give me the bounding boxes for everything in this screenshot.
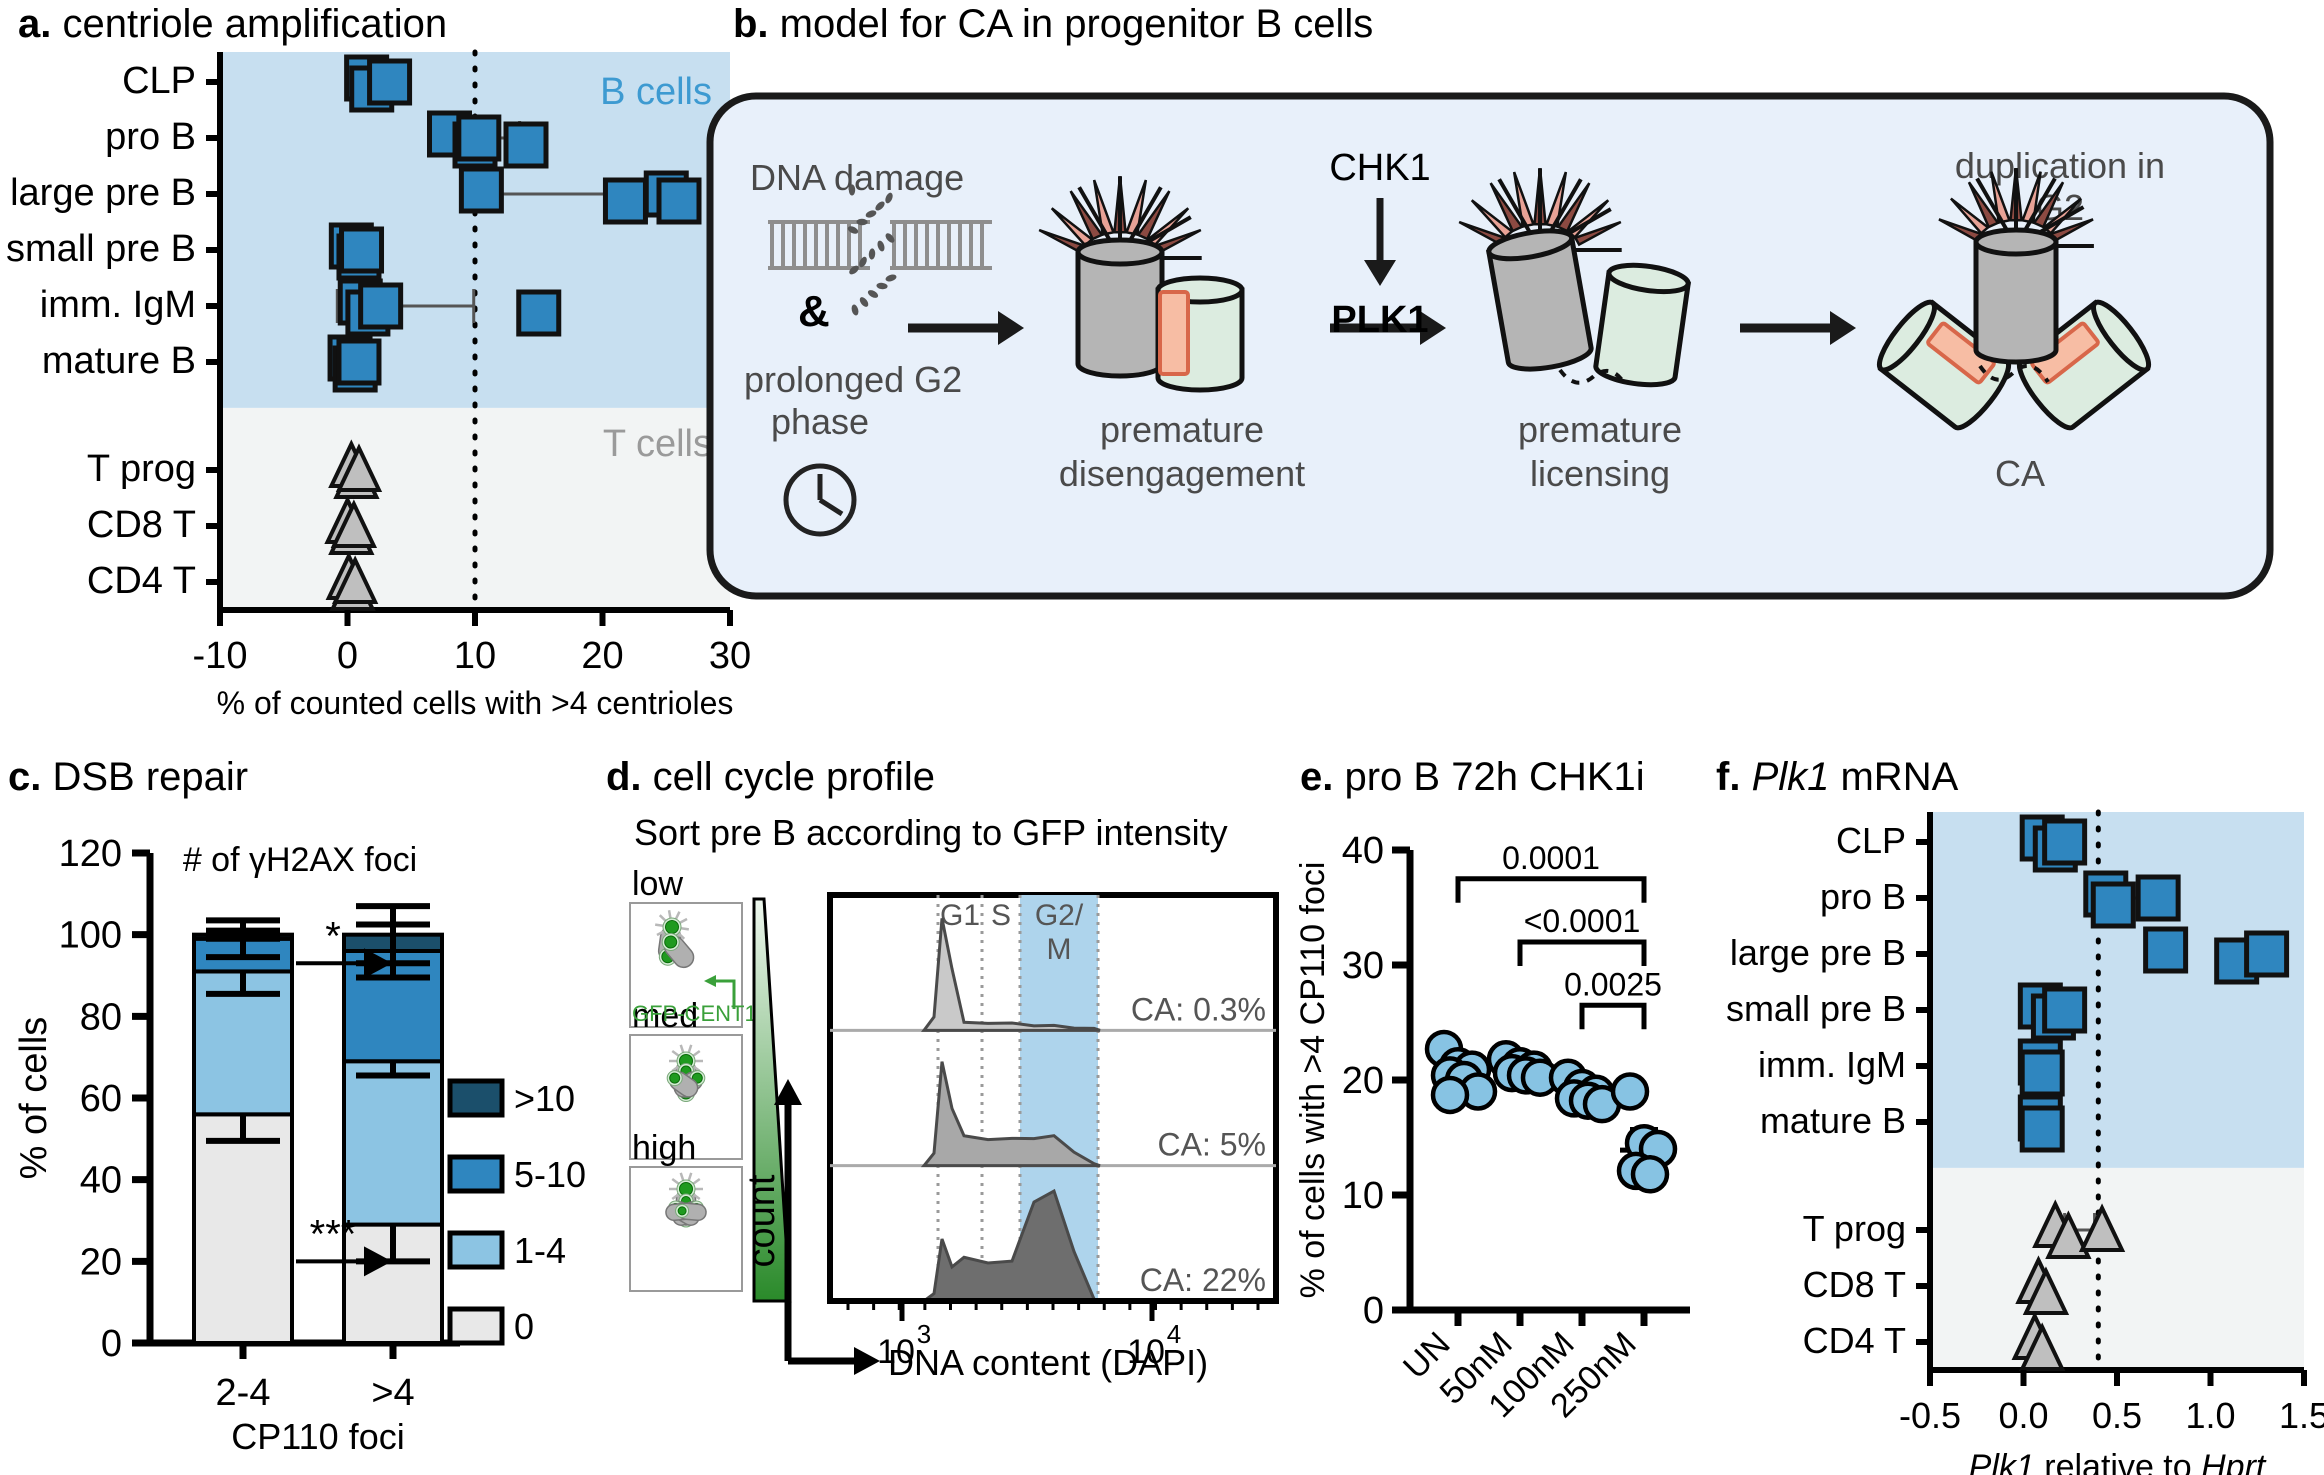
panel-c-plot: 020406080100120# of γH2AX foci% of cells…	[0, 813, 620, 1473]
legend-label: >10	[514, 1078, 575, 1119]
panel-d-subtitle: Sort pre B according to GFP intensity	[634, 812, 1228, 853]
data-point	[361, 285, 401, 327]
legend-swatch	[450, 1157, 502, 1191]
x-tick-label: 2-4	[216, 1372, 271, 1414]
significance-bracket	[1582, 1005, 1644, 1029]
x-tick-label: -0.5	[1899, 1395, 1961, 1436]
row-label-mature-b: mature B	[42, 340, 196, 382]
y-tick-label: 20	[80, 1241, 122, 1283]
data-point	[1633, 1157, 1667, 1191]
panel-a-title-text: centriole amplification	[62, 2, 447, 46]
panel-c-xlabel: CP110 foci	[231, 1416, 404, 1457]
row-label-large-pre-b: large pre B	[1730, 932, 1906, 973]
x-tick-label: 0.0	[1998, 1395, 2048, 1436]
legend-label: 0	[514, 1306, 534, 1347]
data-point	[605, 180, 645, 222]
y-tick-label: 40	[1342, 830, 1384, 872]
plk1-label: PLK1	[1331, 299, 1428, 341]
y-tick-label: 80	[80, 996, 122, 1038]
panel-d-ylabel: count	[741, 1174, 783, 1267]
row-label-cd4-t: CD4 T	[87, 560, 196, 602]
data-point	[2093, 884, 2133, 926]
significance-mark: ***	[310, 1212, 357, 1256]
row-label-clp: CLP	[1836, 820, 1906, 861]
panel-c-title-text: DSB repair	[52, 755, 248, 799]
row-label-imm-igm: imm. IgM	[40, 284, 196, 326]
dna-fragment	[849, 184, 855, 195]
gate-label-g1: G1	[940, 899, 980, 932]
gfp-cent1-label: GFP-CENT1	[632, 1001, 757, 1026]
data-point	[2022, 1052, 2062, 1094]
row-label-cd8-t: CD8 T	[87, 504, 196, 546]
data-point	[2022, 1108, 2062, 1150]
data-point	[2138, 877, 2178, 919]
b-cell-band	[1930, 812, 2304, 1168]
panel-a-title: a. centriole amplification	[18, 2, 447, 47]
panel-b-letter: b.	[733, 2, 769, 46]
premature-licensing-label-1: premature	[1518, 409, 1682, 450]
panel-f-title-gene: Plk1	[1752, 755, 1830, 799]
disengagement-label: disengagement	[1059, 453, 1305, 494]
legend-swatch	[450, 1309, 502, 1343]
significance-mark: *	[325, 914, 341, 958]
row-label-clp: CLP	[122, 60, 196, 102]
y-tick-label: 0	[101, 1323, 122, 1365]
p-value-label: 0.0025	[1564, 966, 1662, 1002]
y-tick-label: 40	[80, 1160, 122, 1202]
panel-e-ylabel: % of cells with >4 CP110 foci	[1294, 862, 1332, 1299]
x-tick-label: 10	[454, 635, 496, 677]
panel-e-letter: e.	[1300, 755, 1333, 799]
y-tick-label: 0	[1363, 1290, 1384, 1332]
linker-protein	[1160, 292, 1188, 374]
data-point	[1433, 1078, 1467, 1112]
ampersand-label: &	[798, 287, 830, 336]
data-point	[370, 61, 410, 103]
count-axis-arrowhead	[774, 1079, 802, 1105]
ca-percentage-label: CA: 5%	[1158, 1127, 1266, 1163]
row-label-small-pre-b: small pre B	[6, 228, 196, 270]
panel-f: f. Plk1 mRNA CLPpro Blarge pre Bsmall pr…	[1680, 755, 2324, 1475]
data-point	[459, 117, 499, 159]
panel-e-plot: 010203040% of cells with >4 CP110 fociUN…	[1290, 810, 1710, 1470]
ca-percentage-label: CA: 22%	[1140, 1262, 1266, 1298]
chk1-label: CHK1	[1329, 147, 1430, 189]
t-cell-band	[1930, 1168, 2304, 1370]
data-point	[506, 124, 546, 166]
y-tick-label: 10	[1342, 1175, 1384, 1217]
panel-f-title-rest: mRNA	[1829, 755, 1958, 799]
prolonged-g2-label: prolonged G2	[744, 359, 962, 400]
significance-bracket	[1458, 879, 1644, 903]
legend-swatch	[450, 1233, 502, 1267]
panel-d-title-text: cell cycle profile	[653, 755, 935, 799]
x-tick-label: 1.5	[2279, 1395, 2324, 1436]
row-label-cd4-t: CD4 T	[1803, 1320, 1906, 1361]
panel-d-title: d. cell cycle profile	[606, 755, 935, 800]
x-tick-label: 0.5	[2092, 1395, 2142, 1436]
panel-a: a. centriole amplification CLPpro Blarge…	[0, 0, 760, 740]
duplication-label-1: duplication in	[1955, 145, 2165, 186]
panel-c-chart-title: # of γH2AX foci	[183, 841, 417, 879]
panel-c-title: c. DSB repair	[8, 755, 248, 800]
x-tick-label: 0	[337, 635, 358, 677]
data-point	[342, 229, 382, 271]
premature-label: premature	[1100, 409, 1264, 450]
x-tick-label: 1.0	[2185, 1395, 2235, 1436]
y-tick-label: 100	[59, 915, 122, 957]
row-label-cd8-t: CD8 T	[1803, 1264, 1906, 1305]
panel-b-diagram: DNA damage&prolonged G2phaseCHK1PLK1prem…	[680, 70, 2300, 710]
panel-c: c. DSB repair 020406080100120# of γH2AX …	[0, 755, 620, 1475]
data-point	[2247, 933, 2287, 975]
data-point	[2146, 929, 2186, 971]
panel-b: b. model for CA in progenitor B cells DN…	[660, 0, 2324, 740]
sort-label-low: low	[632, 865, 683, 903]
gate-label-m: M	[1047, 933, 1072, 966]
panel-e-title: e. pro B 72h CHK1i	[1300, 755, 1645, 800]
panel-b-title-text: model for CA in progenitor B cells	[780, 2, 1374, 46]
panel-a-plot: CLPpro Blarge pre Bsmall pre Bimm. IgMma…	[0, 50, 760, 740]
panel-d-plot: Sort pre B according to GFP intensitylow…	[600, 807, 1300, 1467]
panel-a-xlabel: % of counted cells with >4 centrioles	[217, 685, 734, 721]
legend-label: 5-10	[514, 1154, 586, 1195]
gate-label-g2: G2/	[1035, 899, 1084, 932]
row-label-t-prog: T prog	[1803, 1208, 1906, 1249]
mother-centriole	[1078, 240, 1162, 376]
row-label-pro-b: pro B	[105, 116, 196, 158]
data-point	[461, 169, 501, 211]
row-label-t-prog: T prog	[87, 448, 196, 490]
ca-label: CA	[1995, 453, 2045, 494]
panel-f-xlabel: Plk1 relative to Hprt	[1969, 1448, 2267, 1475]
sort-label-high: high	[632, 1129, 696, 1167]
panel-c-ylabel: % of cells	[13, 1017, 55, 1180]
data-point	[519, 292, 559, 334]
dna-damage-label: DNA damage	[750, 157, 964, 198]
x-tick-label: -10	[193, 635, 248, 677]
daughter-centriole-2	[1594, 261, 1690, 389]
data-point	[1613, 1075, 1647, 1109]
panel-f-letter: f.	[1716, 755, 1740, 799]
mother-centriole-3	[1976, 230, 2056, 362]
panel-d-letter: d.	[606, 755, 642, 799]
y-tick-label: 120	[59, 833, 122, 875]
panel-c-letter: c.	[8, 755, 41, 799]
significance-bracket	[1520, 942, 1644, 966]
phase-label: phase	[771, 401, 869, 442]
y-tick-label: 30	[1342, 945, 1384, 987]
y-tick-label: 60	[80, 1078, 122, 1120]
p-value-label: 0.0001	[1502, 840, 1600, 876]
x-tick-label: >4	[371, 1372, 414, 1414]
x-tick-label: 20	[581, 635, 623, 677]
gate-label-s: S	[991, 899, 1011, 932]
panel-d: d. cell cycle profile Sort pre B accordi…	[600, 755, 1300, 1475]
panel-d-xlabel: DNA content (DAPI)	[888, 1342, 1208, 1383]
panel-e-title-text: pro B 72h CHK1i	[1344, 755, 1644, 799]
row-label-imm-igm: imm. IgM	[1758, 1044, 1906, 1085]
panel-b-title: b. model for CA in progenitor B cells	[733, 2, 1373, 47]
premature-licensing-label-2: licensing	[1530, 453, 1670, 494]
row-label-mature-b: mature B	[1760, 1100, 1906, 1141]
p-value-label: <0.0001	[1524, 903, 1641, 939]
row-label-pro-b: pro B	[1820, 876, 1906, 917]
data-point	[2045, 989, 2085, 1031]
data-point	[339, 341, 379, 383]
panel-a-letter: a.	[18, 2, 51, 46]
legend-label: 1-4	[514, 1230, 566, 1271]
y-tick-label: 20	[1342, 1060, 1384, 1102]
row-label-small-pre-b: small pre B	[1726, 988, 1906, 1029]
panel-f-title: f. Plk1 mRNA	[1716, 755, 1958, 800]
panel-e: e. pro B 72h CHK1i 010203040% of cells w…	[1290, 755, 1710, 1475]
legend-swatch	[450, 1081, 502, 1115]
panel-f-plot: CLPpro Blarge pre Bsmall pre Bimm. IgMma…	[1680, 810, 2324, 1470]
bar-segment	[194, 1114, 292, 1343]
data-point	[2045, 821, 2085, 863]
row-label-large-pre-b: large pre B	[10, 172, 196, 214]
bar-segment	[344, 1061, 442, 1224]
ca-percentage-label: CA: 0.3%	[1131, 991, 1266, 1027]
